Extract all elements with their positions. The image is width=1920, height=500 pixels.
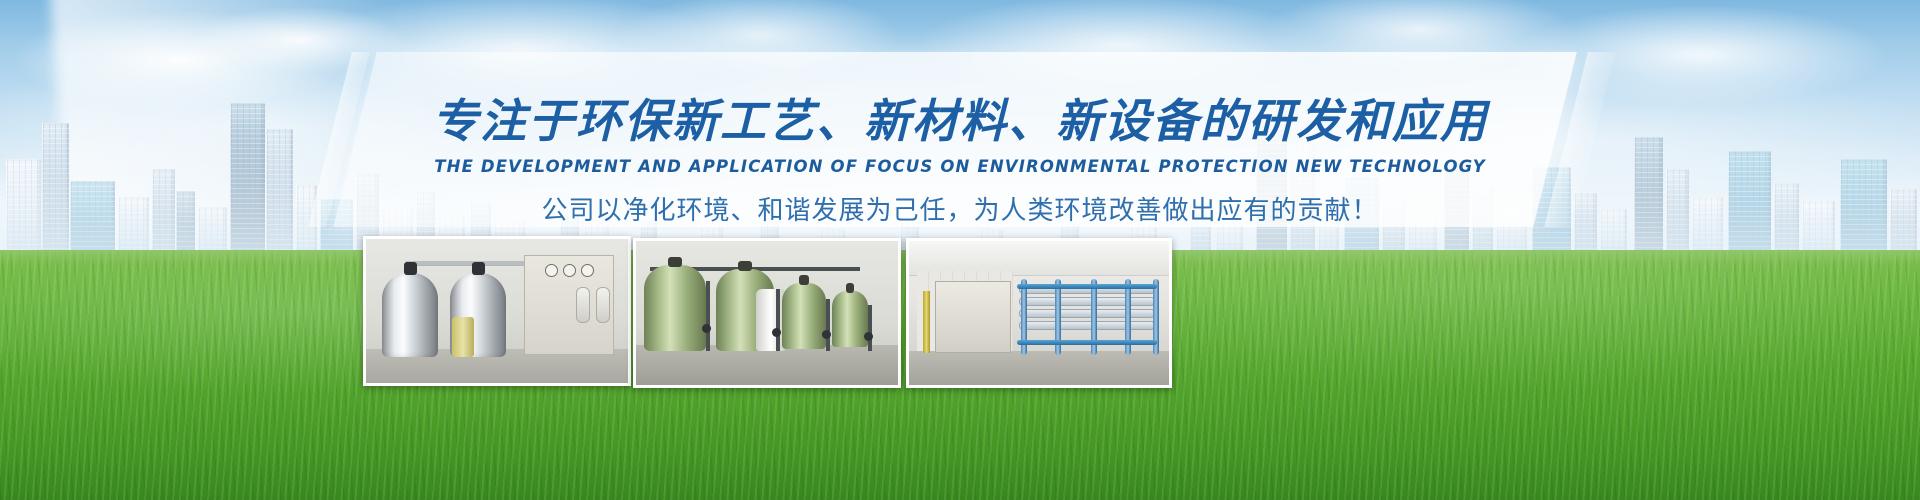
photo-reverse-osmosis-plant-hall[interactable]: Industrial reverse osmosis plant hall wi… bbox=[906, 238, 1172, 388]
product-photo-strip: Stainless steel pressure tanks with reve… bbox=[363, 236, 1173, 384]
photo-green-frp-filter-tank-row[interactable]: Row of green FRP filter tanks with valve… bbox=[633, 238, 901, 388]
banner-text-block: 专注于环保新工艺、新材料、新设备的研发和应用 THE DEVELOPMENT A… bbox=[0, 96, 1920, 227]
photo-stainless-steel-water-treatment-skid[interactable]: Stainless steel pressure tanks with reve… bbox=[363, 236, 631, 386]
banner-tagline-chinese: 公司以净化环境、和谐发展为己任，为人类环境改善做出应有的贡献！ bbox=[0, 190, 1920, 227]
hero-banner: 专注于环保新工艺、新材料、新设备的研发和应用 THE DEVELOPMENT A… bbox=[0, 0, 1920, 500]
banner-headline: 专注于环保新工艺、新材料、新设备的研发和应用 bbox=[0, 96, 1920, 147]
banner-subtitle-english: THE DEVELOPMENT AND APPLICATION OF FOCUS… bbox=[0, 157, 1920, 176]
